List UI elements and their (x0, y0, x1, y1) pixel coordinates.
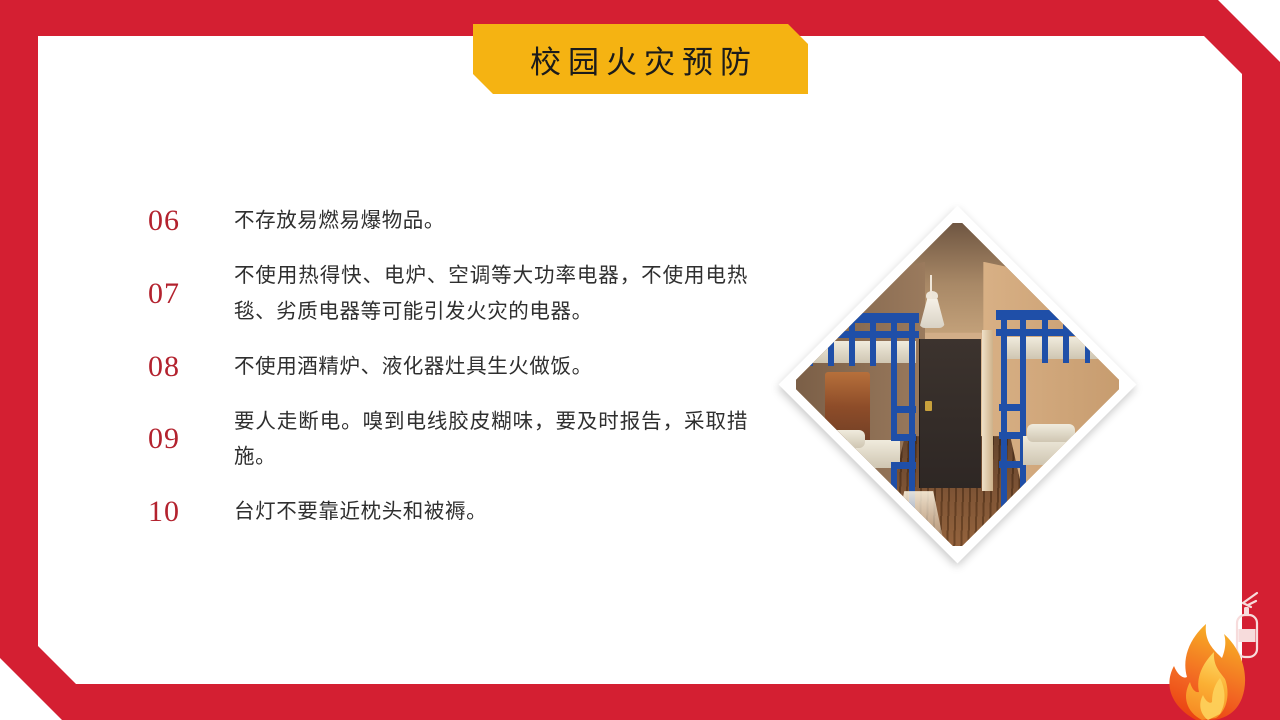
list-item-number: 07 (148, 279, 234, 309)
list-item: 08 不使用酒精炉、液化器灶具生火做饭。 (148, 342, 748, 392)
list-item: 10 台灯不要靠近枕头和被褥。 (148, 487, 748, 537)
diamond-photo-frame (779, 206, 1137, 564)
prevention-tips-list: 06 不存放易燃易爆物品。 07 不使用热得快、电炉、空调等大功率电器，不使用电… (148, 196, 748, 537)
list-item-text: 不存放易燃易爆物品。 (234, 203, 748, 239)
photo-bunk-bed-right (996, 310, 1116, 513)
list-item-number: 08 (148, 352, 234, 382)
dormitory-bunk-beds-photo (796, 223, 1119, 546)
list-item-text: 台灯不要靠近枕头和被褥。 (234, 494, 748, 530)
photo-bunk-bed-left (802, 313, 918, 513)
list-item-text: 不使用热得快、电炉、空调等大功率电器，不使用电热毯、劣质电器等可能引发火灾的电器… (234, 258, 748, 330)
slide-canvas: 校园火灾预防 06 不存放易燃易爆物品。 07 不使用热得快、电炉、空调等大功率… (0, 0, 1280, 720)
fire-extinguisher-icon (1237, 593, 1257, 657)
flame-icon (1169, 624, 1245, 720)
list-item-number: 06 (148, 206, 234, 236)
list-item-text: 要人走断电。嗅到电线胶皮糊味，要及时报告，采取措施。 (234, 404, 748, 476)
list-item: 06 不存放易燃易爆物品。 (148, 196, 748, 246)
corner-decoration (1130, 580, 1280, 720)
photo-ceiling (796, 223, 1119, 333)
photo-door (919, 339, 981, 488)
photo-door-frame (982, 330, 993, 492)
photo-canvas (796, 223, 1119, 546)
photo-lamp-cord (930, 275, 932, 301)
list-item-text: 不使用酒精炉、液化器灶具生火做饭。 (234, 349, 748, 385)
list-item: 09 要人走断电。嗅到电线胶皮糊味，要及时报告，采取措施。 (148, 400, 748, 480)
page-title: 校园火灾预防 (523, 37, 758, 82)
photo-door-handle (925, 401, 933, 411)
list-item: 07 不使用热得快、电炉、空调等大功率电器，不使用电热毯、劣质电器等可能引发火灾… (148, 254, 748, 334)
diamond-photo-border (779, 206, 1137, 564)
list-item-number: 09 (148, 424, 234, 454)
title-banner: 校园火灾预防 (473, 24, 808, 94)
list-item-number: 10 (148, 497, 234, 527)
